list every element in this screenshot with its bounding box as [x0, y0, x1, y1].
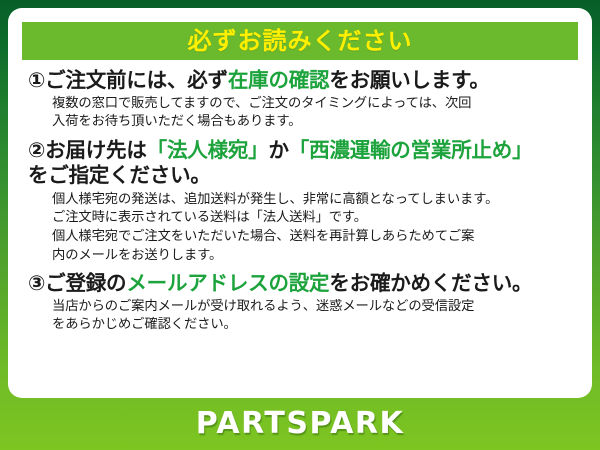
- page-title: 必ずお読みください: [188, 29, 413, 53]
- plain-text: か: [268, 138, 288, 162]
- notice-footer: PARTSPARK: [0, 398, 600, 450]
- brand-logo-partspark: PARTSPARK: [196, 409, 405, 439]
- notice-item-1-body: 複数の窓口で販売してますので、ご注文のタイミングによっては、次回 入荷をお待ち頂…: [28, 95, 576, 132]
- plain-text: をご指定ください。: [28, 163, 211, 187]
- highlighted-text: 在庫の確認: [228, 68, 330, 92]
- notice-item-3: ③ご登録のメールアドレスの設定をお確かめください。 当店からのご案内メールが受け…: [28, 271, 576, 335]
- notice-title-bar: 必ずお読みください: [22, 22, 578, 60]
- highlighted-text: メールアドレスの設定: [126, 271, 329, 295]
- notice-card: 必ずお読みください ①ご注文前には、必ず在庫の確認をお願いします。 複数の窓口で…: [8, 8, 592, 398]
- notice-item-1-heading: ①ご注文前には、必ず在庫の確認をお願いします。: [28, 68, 576, 93]
- plain-text: をお願いします。: [329, 68, 489, 92]
- notice-item-3-body: 当店からのご案内メールが受け取れるよう、迷惑メールなどの受信設定 をあらかじめご…: [28, 298, 576, 335]
- notice-item-3-heading: ③ご登録のメールアドレスの設定をお確かめください。: [28, 271, 576, 296]
- notice-item-2-body: 個人様宅宛の発送は、追加送料が発生し、非常に高額となってしまいます。 ご注文時に…: [28, 191, 576, 265]
- notice-item-2-heading: ②お届け先は「法人様宛」か「西濃運輸の営業所止め」 をご指定ください。: [28, 138, 576, 188]
- plain-text: ③ご登録の: [28, 271, 126, 295]
- highlighted-text: 「法人様宛」: [147, 138, 269, 162]
- notice-frame: 必ずお読みください ①ご注文前には、必ず在庫の確認をお願いします。 複数の窓口で…: [0, 0, 600, 450]
- notice-items-list: ①ご注文前には、必ず在庫の確認をお願いします。 複数の窓口で販売してますので、ご…: [22, 60, 578, 335]
- plain-text: をお確かめください。: [329, 271, 532, 295]
- plain-text: ②お届け先は: [28, 138, 147, 162]
- notice-item-2: ②お届け先は「法人様宛」か「西濃運輸の営業所止め」 をご指定ください。 個人様宅…: [28, 138, 576, 265]
- notice-item-1: ①ご注文前には、必ず在庫の確認をお願いします。 複数の窓口で販売してますので、ご…: [28, 68, 576, 132]
- plain-text: ①ご注文前には、必ず: [28, 68, 228, 92]
- highlighted-text: 「西濃運輸の営業所止め」: [289, 138, 533, 162]
